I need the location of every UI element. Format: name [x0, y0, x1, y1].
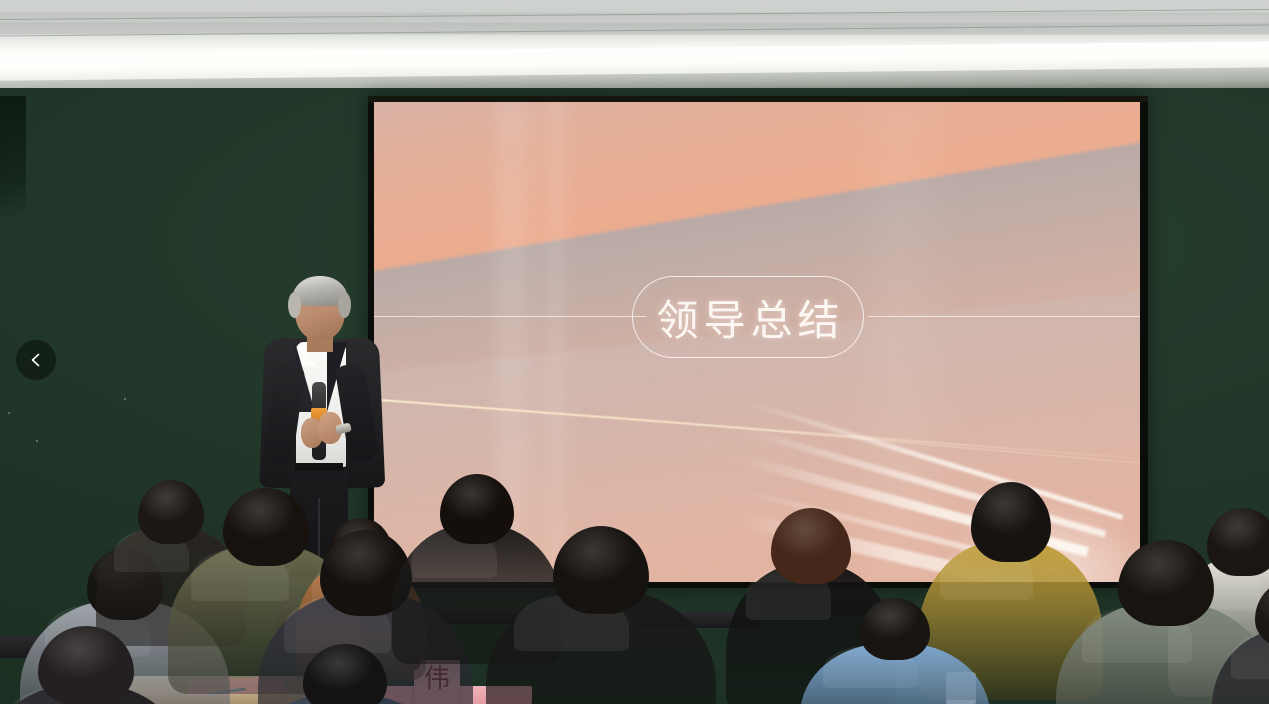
- presenter-hair-side: [288, 292, 301, 318]
- audience-head: [38, 626, 134, 704]
- audience-head: [553, 526, 649, 614]
- audience-front-left-corner: [0, 626, 186, 704]
- presentation-photo-viewer: 领导总结 伟: [0, 0, 1269, 704]
- chevron-left-icon: [28, 352, 44, 368]
- audience-head: [303, 644, 387, 704]
- wall-speck: [124, 398, 126, 400]
- audience-blue-shirt: [800, 598, 990, 704]
- audience-black-suit-center: [486, 526, 716, 704]
- ceiling-seam: [0, 9, 1269, 20]
- audience-head: [771, 508, 851, 584]
- audience-head: [860, 598, 930, 660]
- wall-shadow-left: [0, 96, 26, 216]
- ceiling-seam: [0, 24, 1269, 36]
- audience-dark-right-edge: [1212, 580, 1269, 704]
- audience-front-blue-right: [240, 644, 450, 704]
- slide-title-pill: 领导总结: [632, 276, 864, 358]
- slide-rule-line-right: [868, 316, 1140, 317]
- audience-shoulder-highlight: [1231, 633, 1269, 679]
- slide-title: 领导总结: [651, 287, 844, 348]
- previous-image-button[interactable]: [16, 340, 56, 380]
- wall-speck: [8, 412, 10, 414]
- audience-head: [971, 482, 1051, 562]
- audience: [0, 430, 1269, 704]
- slide-rule-line-left: [374, 316, 646, 317]
- audience-head: [1118, 540, 1214, 626]
- presenter-hair-side: [338, 292, 351, 318]
